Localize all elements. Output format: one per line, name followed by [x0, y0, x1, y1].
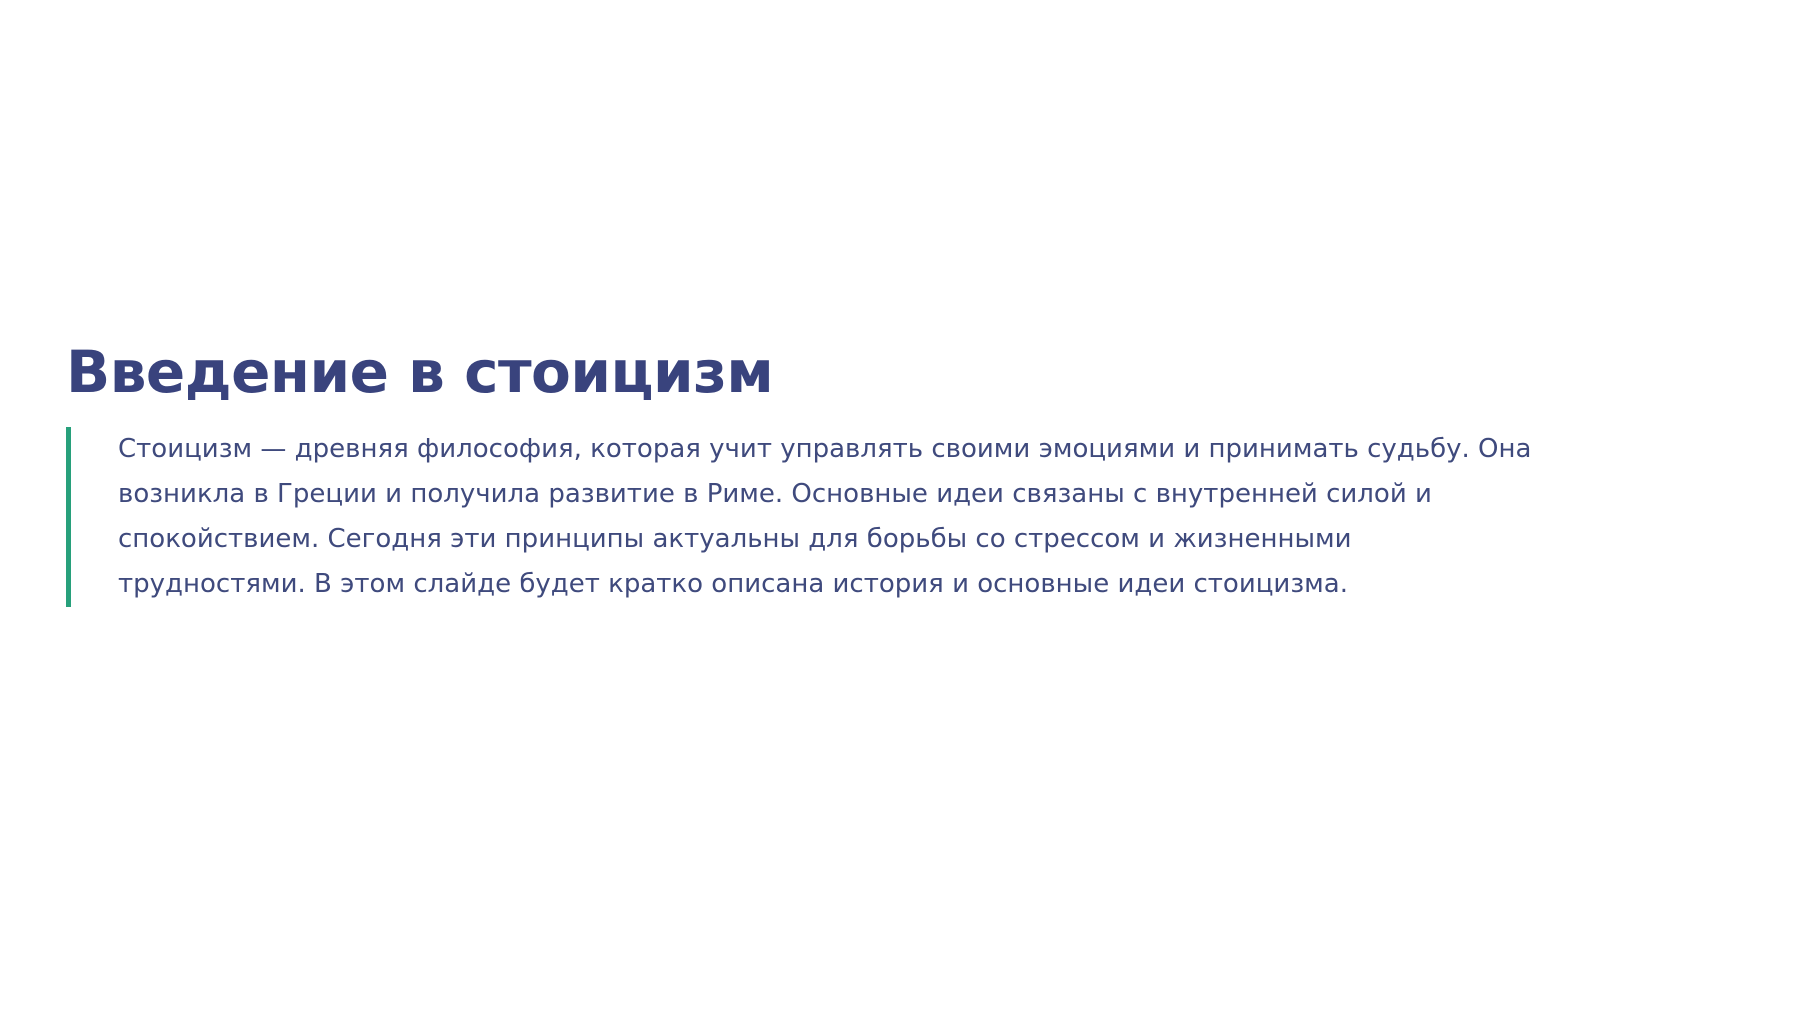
body-paragraph: Стоицизм — древняя философия, которая уч…	[71, 427, 1538, 607]
body-block: Стоицизм — древняя философия, которая уч…	[66, 427, 1746, 607]
slide-content: Введение в стоицизм Стоицизм — древняя ф…	[66, 340, 1746, 607]
slide-canvas: Введение в стоицизм Стоицизм — древняя ф…	[0, 0, 1800, 1013]
page-title: Введение в стоицизм	[66, 340, 1746, 405]
